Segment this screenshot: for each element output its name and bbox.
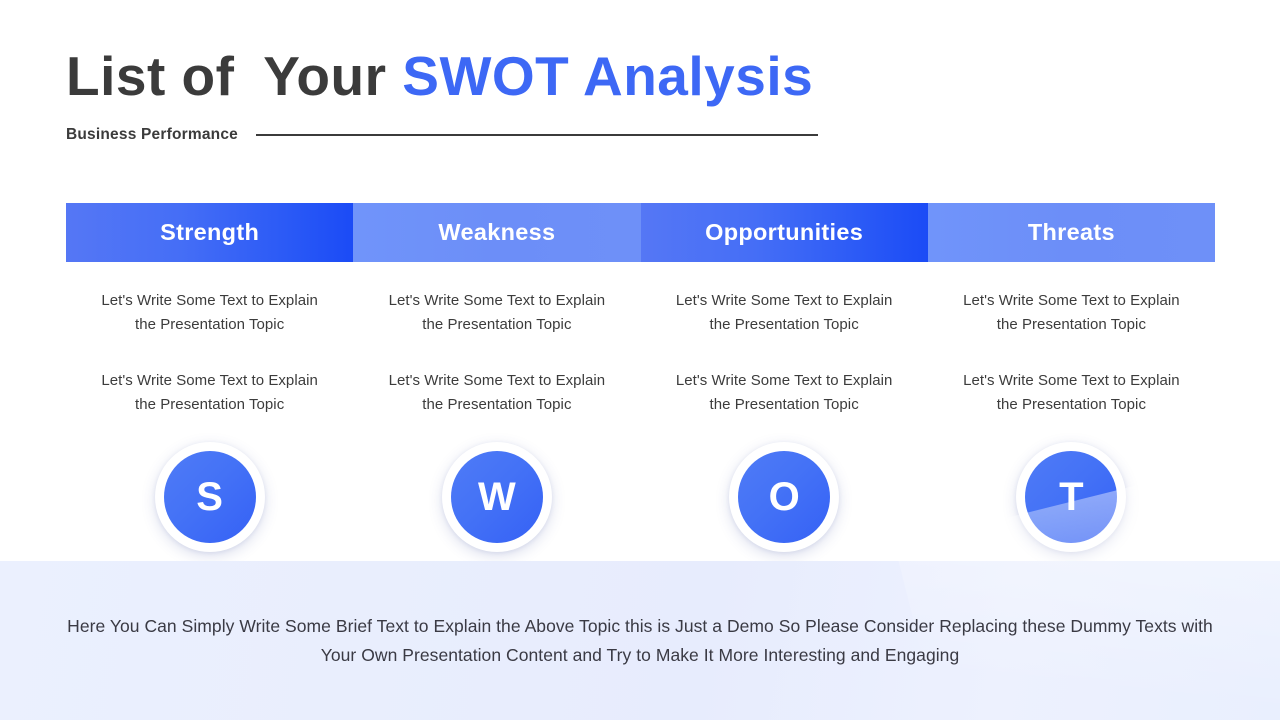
column-header-strength[interactable]: Strength <box>66 203 353 262</box>
column-header-threats[interactable]: Threats <box>928 203 1215 262</box>
footer-band: Here You Can Simply Write Some Brief Tex… <box>0 561 1280 720</box>
swot-column-strength: Strength Let's Write Some Text to Explai… <box>66 203 353 552</box>
swot-column-threats: Threats Let's Write Some Text to Explain… <box>928 203 1215 552</box>
column-paragraph: Let's Write Some Text to Explain the Pre… <box>381 289 613 336</box>
column-paragraph: Let's Write Some Text to Explain the Pre… <box>94 289 326 336</box>
swot-slide: List of Your SWOT Analysis Business Perf… <box>0 0 1280 720</box>
column-paragraph: Let's Write Some Text to Explain the Pre… <box>668 289 900 336</box>
column-header-opportunities[interactable]: Opportunities <box>641 203 928 262</box>
badge-opportunities[interactable]: O <box>729 442 839 552</box>
title-part-2: Your <box>263 45 386 107</box>
column-paragraph: Let's Write Some Text to Explain the Pre… <box>955 289 1187 336</box>
page-title: List of Your SWOT Analysis <box>66 48 1216 106</box>
column-paragraph: Let's Write Some Text to Explain the Pre… <box>94 369 326 416</box>
column-body-opportunities: Let's Write Some Text to Explain the Pre… <box>641 262 928 552</box>
swot-column-opportunities: Opportunities Let's Write Some Text to E… <box>641 203 928 552</box>
badge-letter: W <box>451 451 543 543</box>
slide-header: List of Your SWOT Analysis Business Perf… <box>66 48 1216 144</box>
column-body-threats: Let's Write Some Text to Explain the Pre… <box>928 262 1215 552</box>
subtitle: Business Performance <box>66 126 238 144</box>
badge-letter: S <box>164 451 256 543</box>
swot-columns: Strength Let's Write Some Text to Explai… <box>66 203 1215 552</box>
subtitle-divider <box>256 134 818 137</box>
subtitle-row: Business Performance <box>66 126 1216 144</box>
badge-letter: T <box>1025 451 1117 543</box>
badge-threats[interactable]: T <box>1016 442 1126 552</box>
column-paragraph: Let's Write Some Text to Explain the Pre… <box>381 369 613 416</box>
badge-letter: O <box>738 451 830 543</box>
title-accent: SWOT Analysis <box>402 45 813 107</box>
badge-weakness[interactable]: W <box>442 442 552 552</box>
column-body-weakness: Let's Write Some Text to Explain the Pre… <box>353 262 640 552</box>
badge-strength[interactable]: S <box>155 442 265 552</box>
column-body-strength: Let's Write Some Text to Explain the Pre… <box>66 262 353 552</box>
swot-column-weakness: Weakness Let's Write Some Text to Explai… <box>353 203 640 552</box>
column-paragraph: Let's Write Some Text to Explain the Pre… <box>955 369 1187 416</box>
column-header-weakness[interactable]: Weakness <box>353 203 640 262</box>
title-part-1: List of <box>66 45 234 107</box>
column-paragraph: Let's Write Some Text to Explain the Pre… <box>668 369 900 416</box>
footer-text: Here You Can Simply Write Some Brief Tex… <box>60 612 1220 670</box>
